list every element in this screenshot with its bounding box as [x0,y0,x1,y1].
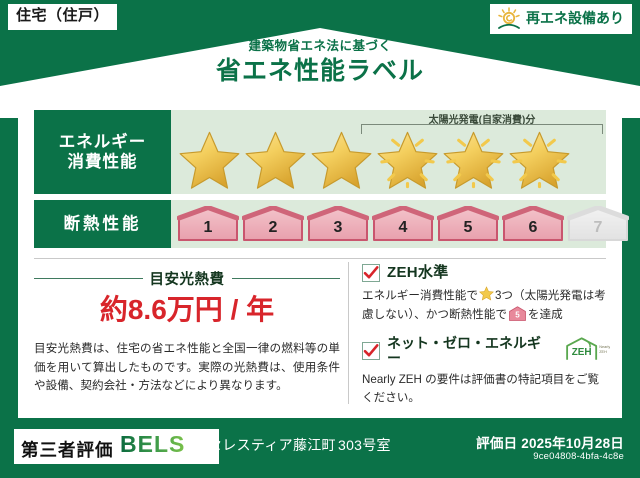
star-icon-solar [507,128,572,190]
svg-text:5: 5 [515,310,520,319]
third-party-label: 第三者評価 [21,441,114,460]
insulation-level-number: 5 [437,219,499,237]
energy-label-line1: エネルギー [59,132,147,152]
svg-text:Nearly: Nearly [599,345,610,349]
insulation-level-number: 4 [372,219,434,237]
insulation-level-number: 1 [177,219,239,237]
net-zero-energy-title: ネット・ゼロ・エネルギー [387,336,554,367]
zeh-standard-block: ZEH水準 エネルギー消費性能で3つ（太陽光発電は考慮しない）、かつ断熱性能で5… [362,264,610,325]
section-divider-vertical [348,262,349,404]
net-zero-energy-body: Nearly ZEH の要件は評価書の特記項目をご覧ください。 [362,371,610,409]
insulation-performance-row: 断熱性能 1234567 [34,200,606,248]
zeh-section: ZEH水準 エネルギー消費性能で3つ（太陽光発電は考慮しない）、かつ断熱性能で5… [362,264,610,419]
insulation-level-2: 2 [242,206,304,242]
energy-label-line2: 消費性能 [68,152,138,172]
insulation-level-number: 7 [567,219,629,237]
energy-performance-label: エネルギー 消費性能 [34,110,171,194]
insulation-level-number: 6 [502,219,564,237]
heading-rule-left [34,278,143,280]
evaluation-date: 評価日 2025年10月28日 [476,432,624,452]
heading-rule-right [232,278,341,280]
zeh-standard-checkbox[interactable] [362,264,380,282]
evaluation-date-value: 2025年10月28日 [521,436,624,451]
renewable-badge-label: 再エネ設備あり [526,11,624,26]
footer-bar: 第三者評価 BELS セレスティア藤江町 303号室 評価日 2025年10月2… [0,424,640,478]
room-number: 303号室 [338,435,391,455]
insulation-level-number: 3 [307,219,369,237]
bels-chip: 第三者評価 BELS [14,429,219,464]
zeh-house-logo-icon: ZEH Nearly ZEH [564,336,610,362]
renewable-equipment-badge: 再エネ設備あり [490,4,632,34]
zeh-body-star-count: 3つ [495,289,513,302]
svg-text:ZEH: ZEH [599,349,607,353]
zeh-standard-title: ZEH水準 [387,265,449,282]
insulation-level-7: 7 [567,206,629,242]
utility-cost-heading: 目安光熱費 [34,268,340,289]
bels-logo: BELS [120,432,212,456]
check-icon [362,264,380,282]
insulation-performance-label: 断熱性能 [34,200,171,248]
star-icon [243,128,308,190]
insulation-level-6: 6 [502,206,564,242]
dwelling-type-tag: 住宅（住戸） [8,4,117,30]
energy-performance-label: 建築物省エネ法に基づく 省エネ性能ラベル 住宅（住戸） 再エネ設備あり エネルギ… [0,0,640,478]
zeh-standard-body: エネルギー消費性能で3つ（太陽光発電は考慮しない）、かつ断熱性能で5を達成 [362,286,610,325]
utility-cost-note: 目安光熱費は、住宅の省エネ性能と全国一律の燃料等の単価を用いて算出したものです。… [34,340,340,396]
insulation-level-1: 1 [177,206,239,242]
insulation-houses-row: 1234567 [177,206,629,242]
net-zero-energy-checkbox[interactable] [362,342,380,360]
insulation-level-icon: 5 [509,306,526,321]
svg-text:ZEH: ZEH [572,347,592,358]
insulation-houses-area: 1234567 [171,200,606,248]
utility-cost-section: 目安光熱費 約8.6万円 / 年 目安光熱費は、住宅の省エネ性能と全国一律の燃料… [34,262,340,396]
header-title-group: 建築物省エネ法に基づく 省エネ性能ラベル [0,40,640,87]
utility-cost-value: 約8.6万円 / 年 [34,295,340,326]
svg-text:BELS: BELS [120,432,185,456]
energy-stars-row [177,128,572,190]
star-icon [309,128,374,190]
main-card: エネルギー 消費性能 太陽光発電(自家消費)分 断熱性能 1234567 目安光… [18,96,622,418]
evaluation-date-label: 評価日 [476,436,517,451]
star-icon-solar [375,128,440,190]
star-icon-solar [441,128,506,190]
utility-cost-heading-label: 目安光熱費 [150,268,225,289]
star-icon [177,128,242,190]
evaluation-id: 9ce04808-4bfa-4c8e [533,451,624,462]
building-name: セレスティア藤江町 [208,435,336,455]
net-zero-energy-head: ネット・ゼロ・エネルギー ZEH Nearly ZEH [362,336,610,367]
solar-sun-icon [496,7,522,31]
insulation-level-3: 3 [307,206,369,242]
insulation-level-number: 2 [242,219,304,237]
energy-stars-area: 太陽光発電(自家消費)分 [171,110,606,194]
insulation-level-4: 4 [372,206,434,242]
energy-performance-row: エネルギー 消費性能 太陽光発電(自家消費)分 [34,110,606,194]
header-title: 省エネ性能ラベル [0,56,640,87]
insulation-level-5: 5 [437,206,499,242]
zeh-body-part1: エネルギー消費性能で [362,289,478,302]
check-icon [362,342,380,360]
zeh-logo: ZEH Nearly ZEH [564,336,610,367]
section-divider-horizontal [34,258,606,259]
zeh-standard-head: ZEH水準 [362,264,610,282]
zeh-body-part3: を達成 [528,308,563,321]
star-icon [479,286,494,301]
header-subtitle: 建築物省エネ法に基づく [0,40,640,54]
net-zero-energy-block: ネット・ゼロ・エネルギー ZEH Nearly ZEH Nearly ZEH の… [362,336,610,409]
